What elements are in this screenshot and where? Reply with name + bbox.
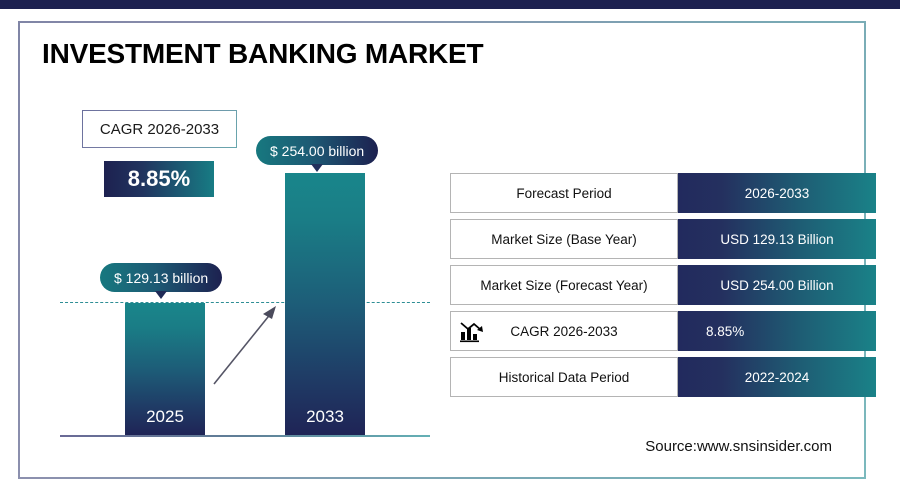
table-row-value: 2026-2033	[745, 186, 810, 201]
table-row: Market Size (Forecast Year) USD 254.00 B…	[450, 265, 876, 305]
table-row: CAGR 2026-2033 8.85%	[450, 311, 876, 351]
value-callout-2033: $ 254.00 billion	[256, 136, 378, 165]
cagr-value-text: 8.85%	[128, 166, 190, 192]
content-frame: INVESTMENT BANKING MARKET CAGR 2026-2033…	[18, 21, 866, 479]
bar-2033: 2033	[285, 173, 365, 435]
source-attribution: Source:www.snsinsider.com	[645, 438, 832, 455]
page-title: INVESTMENT BANKING MARKET	[42, 38, 483, 70]
table-row-label-cell: Historical Data Period	[450, 357, 678, 397]
table-row: Forecast Period 2026-2033	[450, 173, 876, 213]
top-accent-bar	[0, 0, 900, 9]
bar-2025: 2025	[125, 303, 205, 435]
table-row-value-cell: 2022-2024	[678, 357, 876, 397]
bar-label-2025: 2025	[125, 407, 205, 427]
table-row: Market Size (Base Year) USD 129.13 Billi…	[450, 219, 876, 259]
cagr-label-text: CAGR 2026-2033	[100, 121, 219, 138]
table-row: Historical Data Period 2022-2024	[450, 357, 876, 397]
value-callout-2025-text: $ 129.13 billion	[114, 270, 208, 286]
table-row-label-cell: CAGR 2026-2033	[450, 311, 678, 351]
table-row-value: 2022-2024	[745, 370, 810, 385]
table-row-label-cell: Forecast Period	[450, 173, 678, 213]
growth-arrow-icon	[210, 298, 285, 388]
cagr-value-badge: 8.85%	[104, 161, 214, 197]
table-row-value: USD 254.00 Billion	[720, 278, 833, 293]
table-row-label-cell: Market Size (Forecast Year)	[450, 265, 678, 305]
table-row-label: Historical Data Period	[499, 370, 630, 385]
chart-baseline-axis	[60, 435, 430, 437]
bar-chart: CAGR 2026-2033 8.85% $ 254.00 billion $ …	[60, 93, 430, 438]
market-summary-table: Forecast Period 2026-2033 Market Size (B…	[450, 173, 876, 403]
table-row-value-cell: 8.85%	[678, 311, 876, 351]
bar-chart-trend-icon	[459, 319, 485, 343]
table-row-label-cell: Market Size (Base Year)	[450, 219, 678, 259]
table-row-label: Forecast Period	[516, 186, 611, 201]
table-row-value-cell: USD 254.00 Billion	[678, 265, 876, 305]
table-row-value: 8.85%	[706, 324, 744, 339]
table-row-label: Market Size (Forecast Year)	[480, 278, 647, 293]
table-row-label: Market Size (Base Year)	[491, 232, 637, 247]
value-callout-2025: $ 129.13 billion	[100, 263, 222, 292]
bar-label-2033: 2033	[285, 407, 365, 427]
table-row-value-cell: 2026-2033	[678, 173, 876, 213]
cagr-label-box: CAGR 2026-2033	[82, 110, 237, 148]
table-row-value-cell: USD 129.13 Billion	[678, 219, 876, 259]
table-row-label: CAGR 2026-2033	[510, 324, 617, 339]
table-row-value: USD 129.13 Billion	[720, 232, 833, 247]
value-callout-2033-text: $ 254.00 billion	[270, 143, 364, 159]
